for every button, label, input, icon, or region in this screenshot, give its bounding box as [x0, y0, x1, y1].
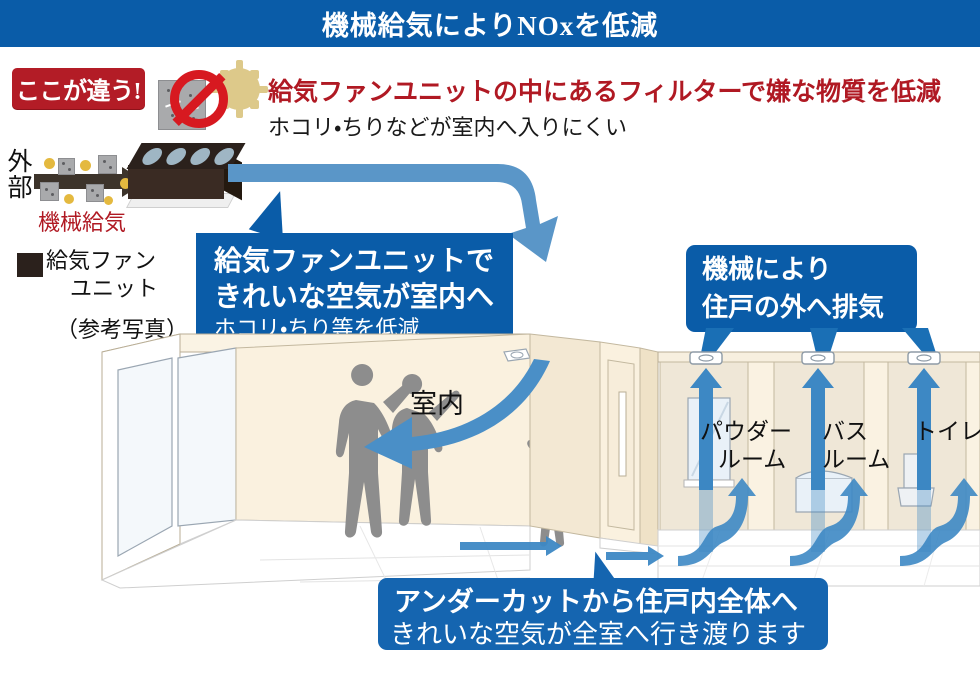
label-powder-room: パウダー ルーム: [700, 418, 792, 473]
badge-koko-ga-chigau: ここが違う!: [12, 68, 145, 109]
legend-fan-unit-label: 給気ファン ユニット: [46, 247, 206, 303]
no-entry-slash-icon: [170, 70, 228, 128]
callout-supply-line2: きれいな空気が室内へ: [214, 275, 494, 315]
headline-secondary: ホコリ・ちりなどが室内へ入りにくい: [268, 110, 627, 142]
label-powder-room-line2: ルーム: [700, 446, 792, 474]
label-bath-room-line1: バス: [822, 418, 890, 446]
label-toilet-line1: トイレ: [914, 418, 980, 446]
label-powder-room-line1: パウダー: [700, 418, 792, 446]
infographic-root: 機械給気によりNOxを低減 ここが違う! 給気ファンユニットの中にある: [0, 0, 980, 692]
label-mechanical-supply: 機械給気: [38, 205, 126, 237]
ceiling-exhaust-vent-icon: [690, 352, 722, 364]
callout-exhaust-line1: 機械により: [702, 249, 831, 286]
callout-undercut: アンダーカットから住戸内全体へ きれいな空気が全室へ行き渡ります: [378, 578, 828, 650]
callout-exhaust: 機械により 住戸の外へ排気: [686, 245, 917, 332]
label-bath-room-line2: ルーム: [822, 446, 890, 474]
label-outside: 外部: [2, 148, 30, 200]
label-interior: 室内: [410, 382, 464, 421]
supply-fan-unit-photo: [128, 143, 244, 215]
legend-color-swatch: [17, 253, 43, 277]
legend-line-1: 給気ファン: [46, 247, 206, 275]
callout-supply-fan: 給気ファンユニットで きれいな空気が室内へ ホコリ・ちり等を低減: [196, 233, 513, 343]
legend-line-2: ユニット: [46, 275, 206, 303]
no-entry-pollutant-cluster: [150, 58, 268, 140]
ceiling-exhaust-vent-icon: [908, 352, 940, 364]
callout-supply-line1: 給気ファンユニットで: [214, 239, 494, 279]
callout-undercut-line2: きれいな空気が全室へ行き渡ります: [390, 614, 806, 651]
callout-exhaust-line2: 住戸の外へ排気: [702, 287, 884, 324]
ceiling-exhaust-vent-icon: [802, 352, 834, 364]
label-toilet: トイレ: [914, 418, 980, 446]
label-bath-room: バス ルーム: [822, 418, 890, 473]
page-title: 機械給気によりNOxを低減: [0, 0, 980, 47]
headline-primary: 給気ファンユニットの中にあるフィルターで嫌な物質を低減: [268, 72, 941, 108]
